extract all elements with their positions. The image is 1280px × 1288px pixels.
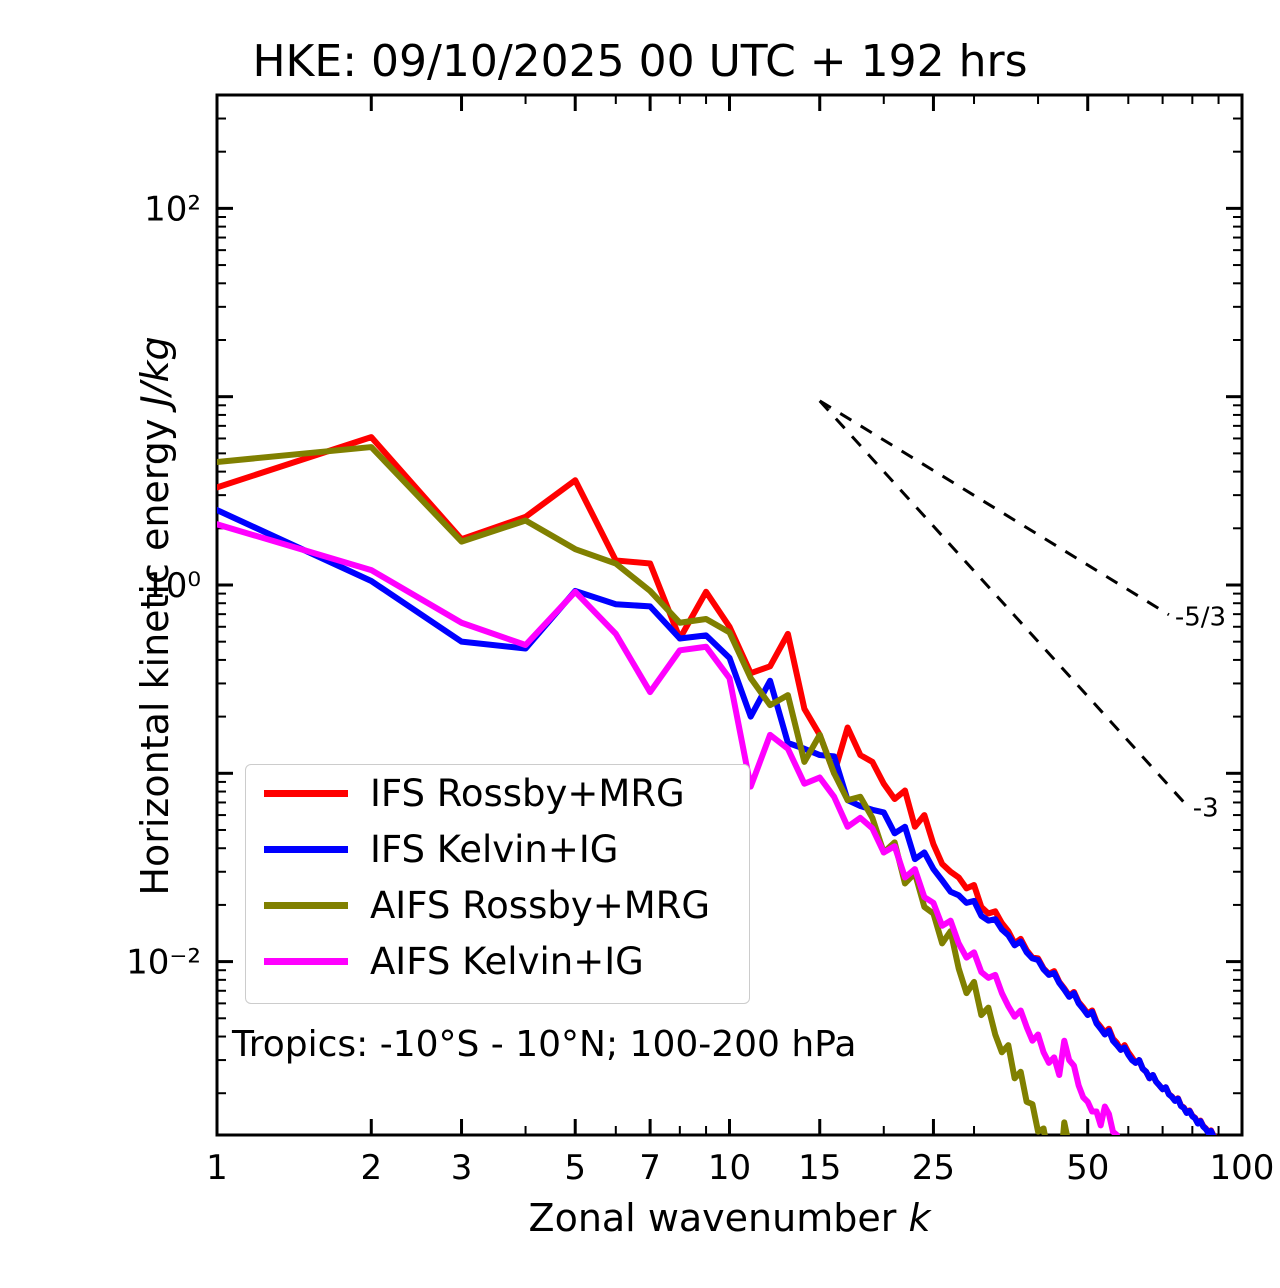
x-tick-label: 10 [708, 1148, 751, 1188]
legend: IFS Rossby+MRGIFS Kelvin+IGAIFS Rossby+M… [245, 764, 750, 1004]
legend-color-swatch [264, 790, 348, 797]
figure-canvas: HKE: 09/10/2025 00 UTC + 192 hrs Horizon… [0, 0, 1280, 1288]
legend-color-swatch [264, 958, 348, 965]
legend-item[interactable]: IFS Rossby+MRG [246, 765, 749, 821]
legend-label: IFS Kelvin+IG [370, 831, 618, 868]
reference-slope-label: -3 [1193, 793, 1219, 823]
x-tick-label: 100 [1210, 1148, 1275, 1188]
x-tick-label: 50 [1066, 1148, 1109, 1188]
y-axis-tick-labels: 10²10⁰10⁻² [126, 189, 201, 982]
x-tick-label: 7 [639, 1148, 661, 1188]
x-tick-label: 1 [206, 1148, 228, 1188]
x-tick-label: 15 [798, 1148, 841, 1188]
x-tick-label: 2 [360, 1148, 382, 1188]
y-tick-label: 10⁻² [126, 943, 201, 983]
legend-item[interactable]: AIFS Kelvin+IG [246, 933, 749, 989]
x-axis-tick-labels: 1235710152550100 [206, 1148, 1274, 1188]
plot-svg: 1235710152550100 10²10⁰10⁻² -5/3-3 [0, 0, 1280, 1288]
legend-item[interactable]: AIFS Rossby+MRG [246, 877, 749, 933]
reference-slope-label: -5/3 [1175, 603, 1226, 633]
x-tick-label: 25 [912, 1148, 955, 1188]
legend-color-swatch [264, 902, 348, 909]
legend-label: IFS Rossby+MRG [370, 775, 685, 812]
x-tick-label: 3 [451, 1148, 473, 1188]
legend-color-swatch [264, 846, 348, 853]
region-annotation: Tropics: -10°S - 10°N; 100-200 hPa [232, 1024, 856, 1065]
legend-item[interactable]: IFS Kelvin+IG [246, 821, 749, 877]
y-tick-label: 10² [144, 189, 201, 229]
legend-label: AIFS Rossby+MRG [370, 887, 710, 924]
x-tick-label: 5 [564, 1148, 586, 1188]
legend-label: AIFS Kelvin+IG [370, 943, 644, 980]
y-tick-label: 10⁰ [144, 566, 201, 606]
